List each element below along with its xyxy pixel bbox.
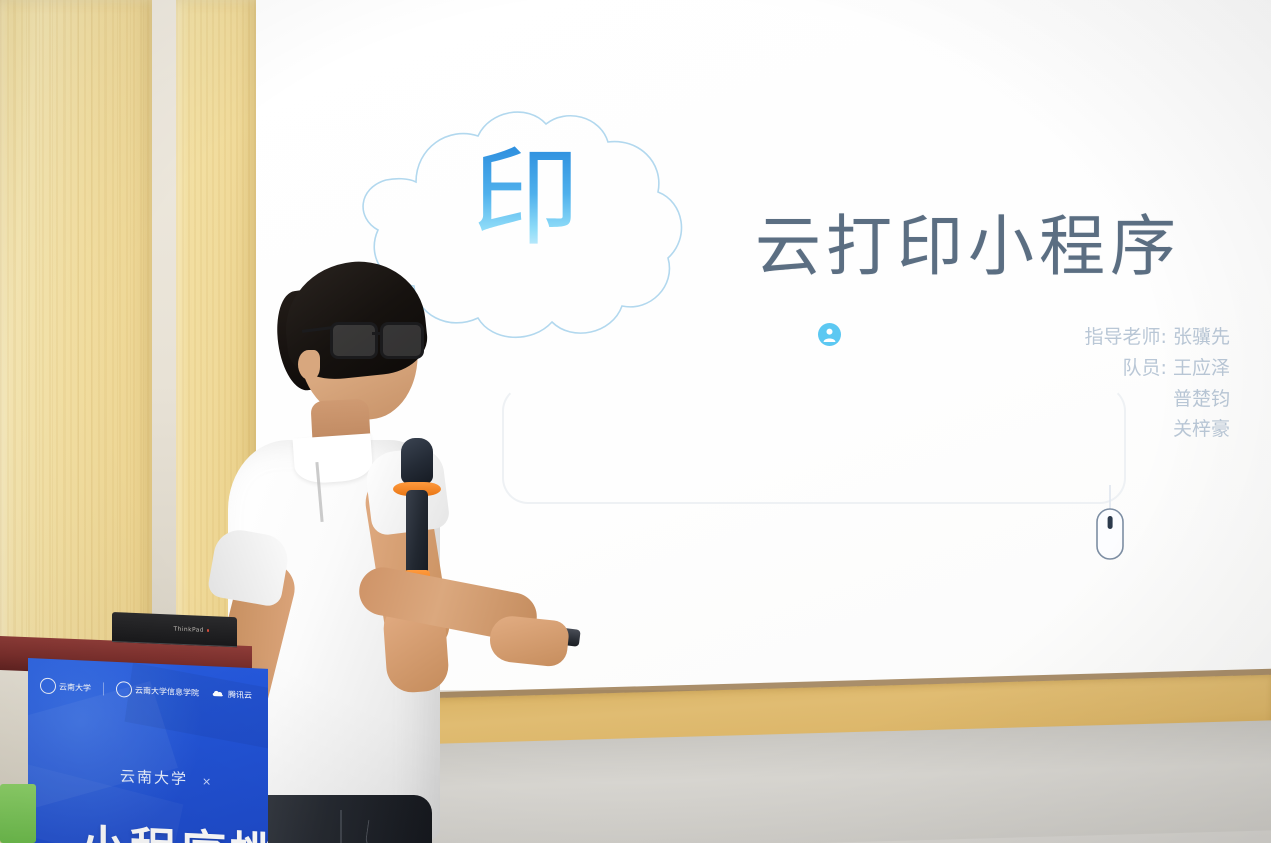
jeans-pocket [364,820,403,843]
laptop-logo-dot [207,629,210,632]
slide-title: 云打印小程序 [755,208,1181,286]
ear [298,350,320,380]
credit-row-member-1: 队员: 王应泽 [830,353,1230,384]
glasses-lens-left [330,322,378,359]
banner-separator: × [202,775,213,789]
banner-subtitle: 云南大学× [120,765,213,790]
credit-advisor-label: 指导老师: [1085,326,1167,348]
mic-head [401,438,433,484]
logo-label-3: 腾讯云 [228,689,252,701]
cloud-hanzi-print: 印 [472,145,580,253]
credit-member-name-1: 王应泽 [1173,357,1230,379]
laptop: ThinkPad [112,612,237,647]
credit-row-advisor: 指导老师: 张骥先 [830,322,1230,353]
banner-university: 云南大学 [120,767,188,788]
glasses-lens-right [380,322,424,359]
laptop-brand: ThinkPad [174,626,204,634]
logo-label-1: 云南大学 [59,681,91,693]
shield-icon [116,681,132,698]
credit-advisor-name: 张骥先 [1173,326,1230,348]
seal-icon [40,678,56,695]
glasses-bridge [372,332,381,335]
credit-member-label: 队员: [1123,357,1167,379]
podium-banner: 云南大学 云南大学信息学院 腾讯云 云南大学× 小程序挑 [28,658,268,843]
logo-label-2: 云南大学信息学院 [135,684,199,698]
handheld-microphone [398,438,436,588]
person-badge-icon [818,323,841,346]
logo-information-school: 云南大学信息学院 [116,681,199,701]
credit-member-name-3: 关梓豪 [1173,418,1230,440]
logo-tencent-cloud: 腾讯云 [211,686,252,702]
logo-divider [103,682,104,695]
banner-headline: 小程序挑 [80,810,268,843]
green-box [0,784,36,843]
jeans [242,795,432,843]
credit-member-name-2: 普楚钧 [1173,388,1230,410]
logo-yunnan-university: 云南大学 [40,678,91,696]
photo-scene: 印 云打印小程序 指导老师: 张骥先 队员: 王应泽 普楚钧 [0,0,1271,843]
mic-body [406,490,428,578]
glasses [330,322,426,356]
computer-mouse-icon [1090,485,1130,565]
jeans-seam [340,810,342,843]
hand-holding-remote [488,614,570,668]
cloud-icon [211,686,225,701]
